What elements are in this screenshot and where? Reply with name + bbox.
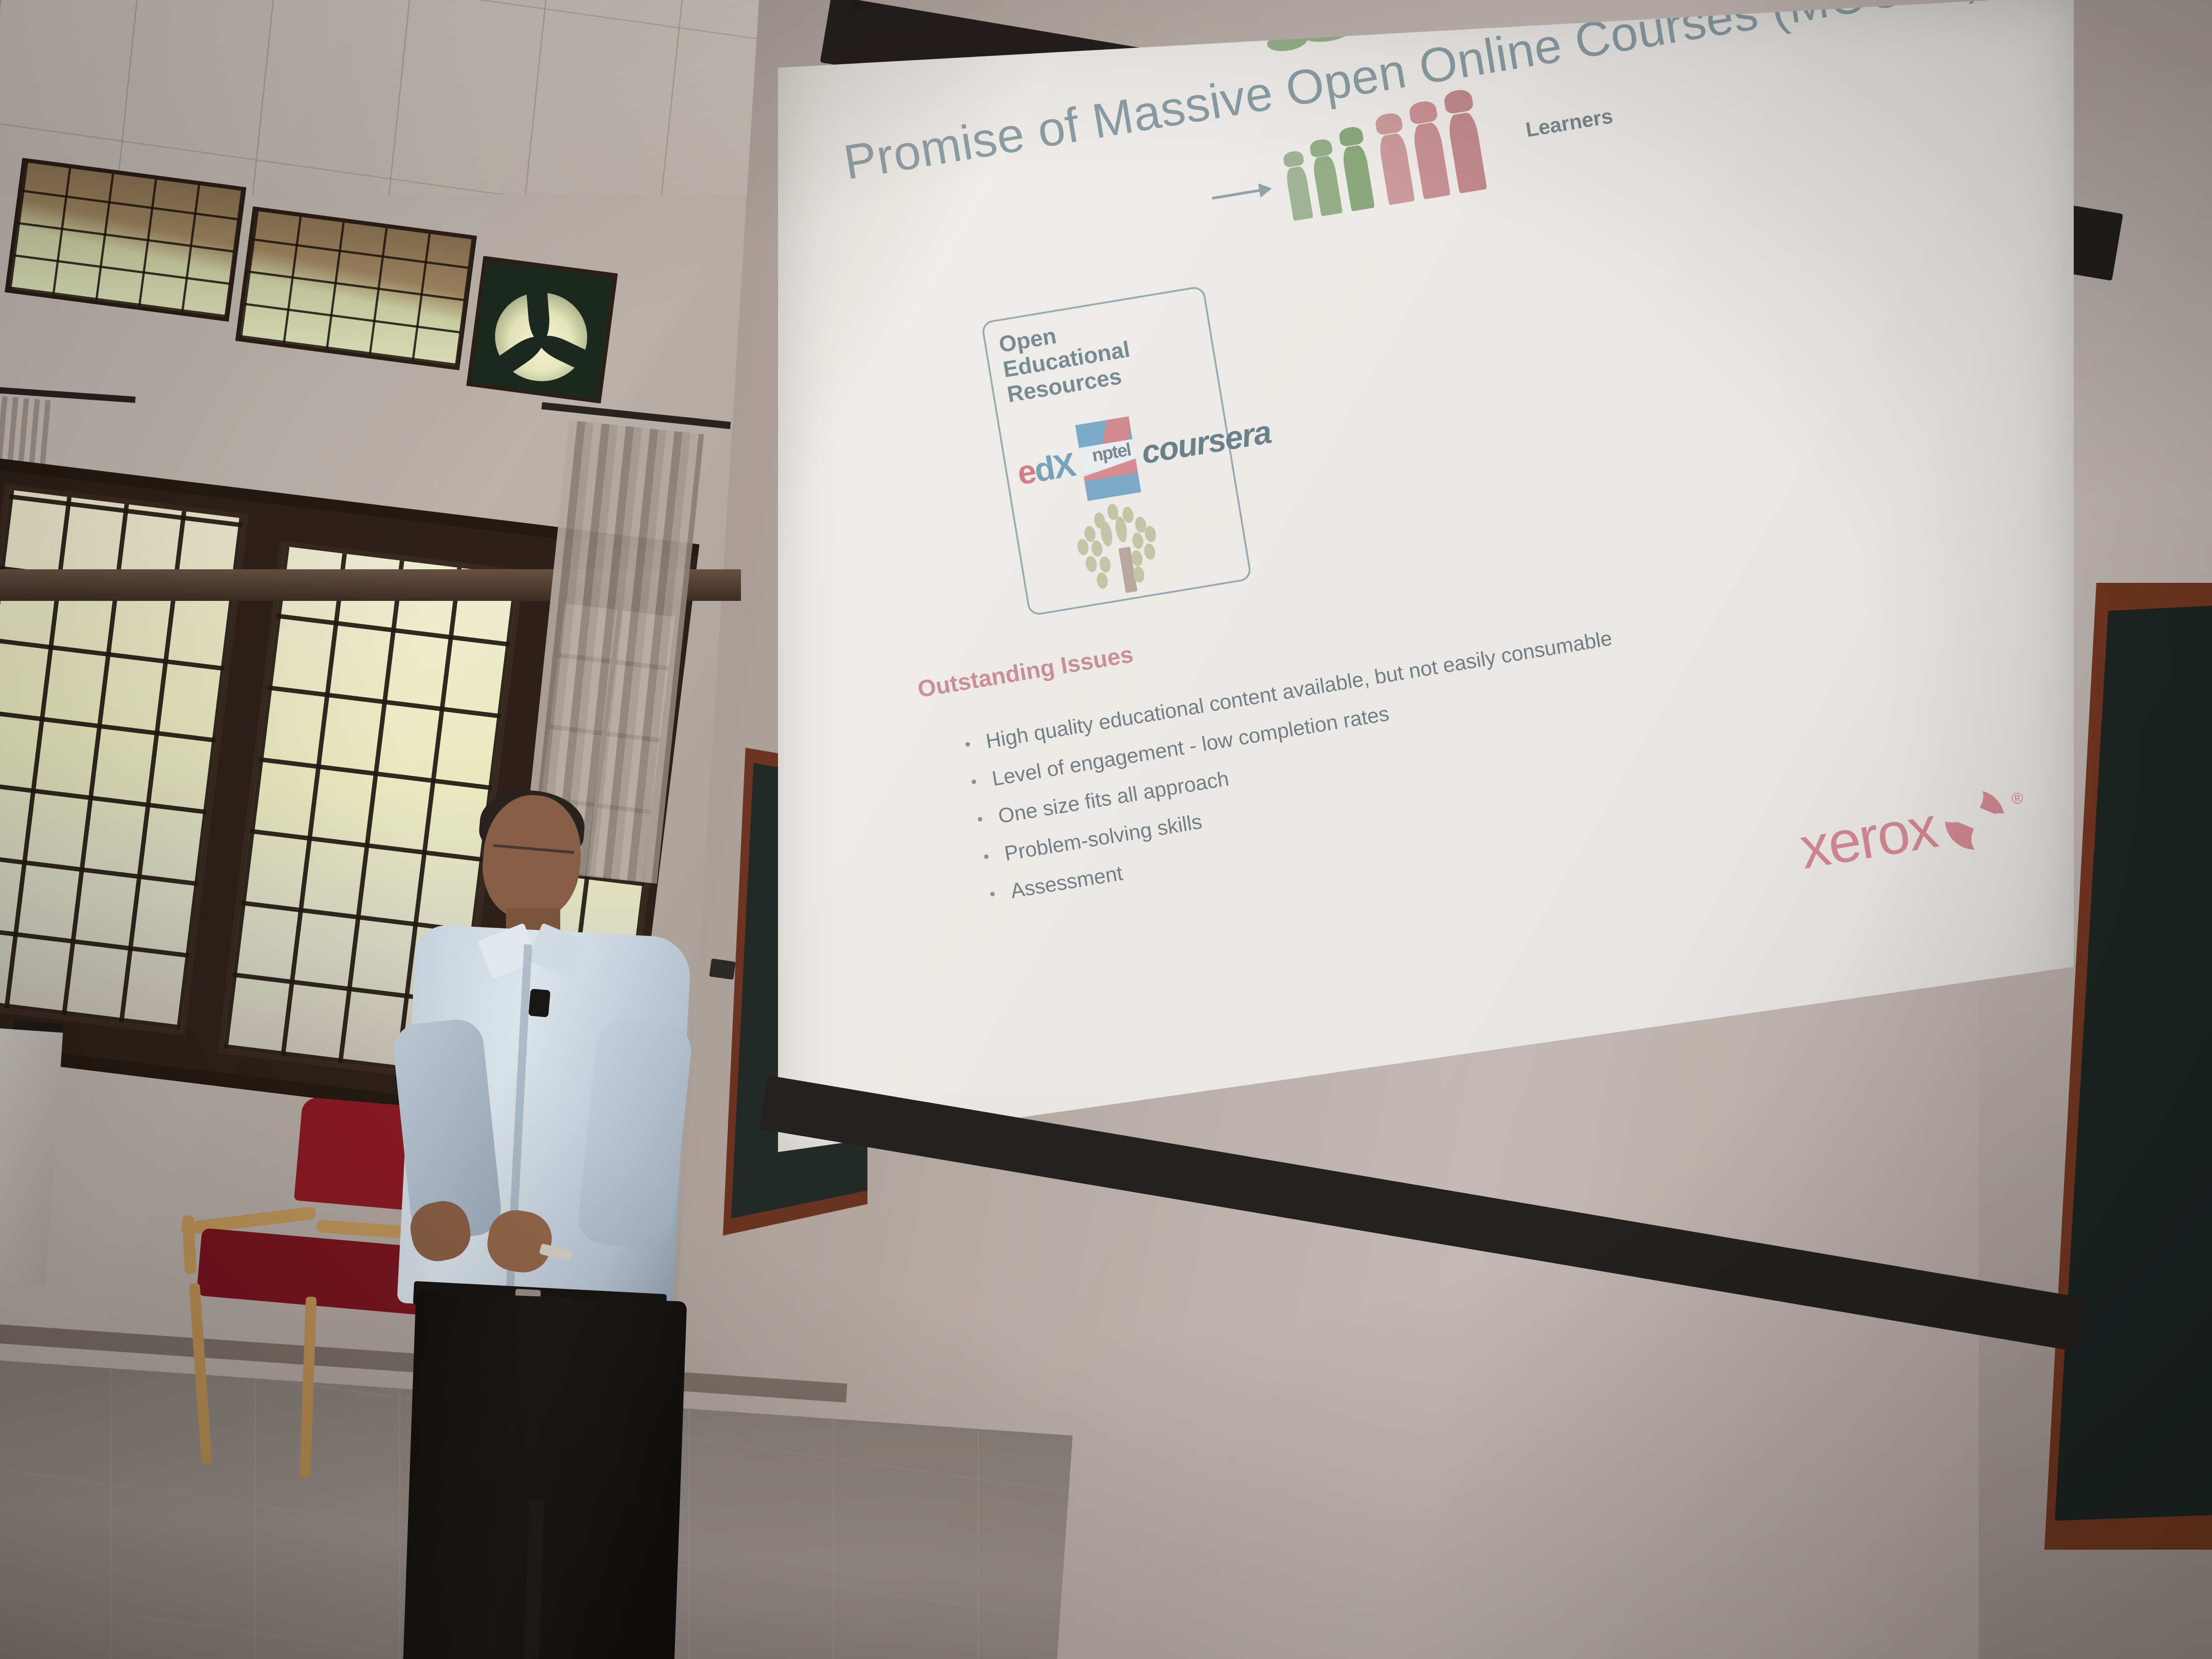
lecture-hall-photograph: Promise of Massive Open Online Courses (… [0, 0, 2212, 1659]
outstanding-issues-heading: Outstanding Issues [916, 641, 1135, 703]
transom-window-left [5, 158, 246, 322]
learner-figure [1443, 88, 1487, 192]
figure-body [1378, 132, 1415, 206]
coursera-logo: coursera [1139, 413, 1274, 471]
edx-logo: edX [1015, 448, 1077, 490]
figure-head [1283, 150, 1305, 168]
tree-leaf [1090, 539, 1104, 557]
flow-arrow-icon [1212, 187, 1270, 200]
figure-head [1338, 126, 1364, 147]
learner-figure [1374, 112, 1415, 204]
nptel-logo: nptel [1075, 417, 1141, 501]
learner-figure [1338, 126, 1375, 211]
figure-body [1285, 165, 1313, 221]
learners-label: Learners [1524, 103, 1615, 142]
oer-logos-row: edX nptel coursera [1011, 399, 1234, 514]
building-main-block [1294, 0, 1384, 31]
tree-leaf [1131, 532, 1145, 549]
xerox-sphere-icon [1940, 786, 2009, 854]
projected-slide: Promise of Massive Open Online Courses (… [804, 0, 2178, 1058]
learner-figure [1408, 99, 1451, 198]
building-window [1375, 0, 1385, 10]
figure-head [1408, 99, 1439, 125]
wall-switch-plate[interactable] [709, 958, 736, 979]
landscape-bush [1266, 29, 1309, 54]
figure-head [1309, 138, 1333, 158]
landscape-tree [1366, 0, 1405, 25]
xerox-wordmark: xerox [1796, 797, 1940, 878]
building-wing-right [1364, 0, 1407, 24]
chair-leg [300, 1297, 317, 1478]
projection-screen-assembly: Promise of Massive Open Online Courses (… [777, 0, 2182, 1360]
chair-leg [189, 1283, 212, 1464]
figure-body [1412, 122, 1451, 200]
lapel-microphone-icon [528, 989, 550, 1017]
exhaust-fan-opening [466, 256, 618, 403]
tree-leaf [1143, 543, 1157, 560]
figure-body [1341, 144, 1374, 211]
open-educational-resources-box: Open Educational Resources edX nptel cou… [981, 286, 1252, 617]
presenter-trousers [398, 1292, 687, 1659]
learner-figure [1309, 138, 1342, 216]
learner-figure [1283, 150, 1313, 220]
figure-head [1443, 88, 1474, 115]
building-wing-left [1264, 0, 1309, 37]
tree-leaf [1098, 556, 1112, 573]
xerox-logo: xerox ® [1796, 782, 2030, 878]
tree-leaf [1099, 520, 1114, 547]
tree-logo-icon [1069, 496, 1177, 600]
figure-head [1374, 112, 1403, 135]
window-grille-pattern [240, 211, 473, 366]
projection-screen: Promise of Massive Open Online Courses (… [777, 0, 2078, 1152]
tree-leaf [1085, 555, 1098, 573]
building-window [1387, 0, 1397, 7]
figure-body [1312, 155, 1343, 216]
landscape-bush [1300, 16, 1357, 45]
window-grille-pattern [9, 162, 242, 317]
screen-weight-bar [759, 1075, 2087, 1352]
tree-leaf [1096, 572, 1109, 589]
fan-housing [471, 260, 613, 398]
registered-trademark-icon: ® [2010, 789, 2025, 809]
presenter [334, 795, 705, 1527]
oer-box-label: Open Educational Resources [997, 303, 1188, 407]
tree-leaf [1144, 525, 1158, 543]
figure-body [1447, 111, 1487, 193]
chair-armrest-left [180, 1206, 316, 1235]
